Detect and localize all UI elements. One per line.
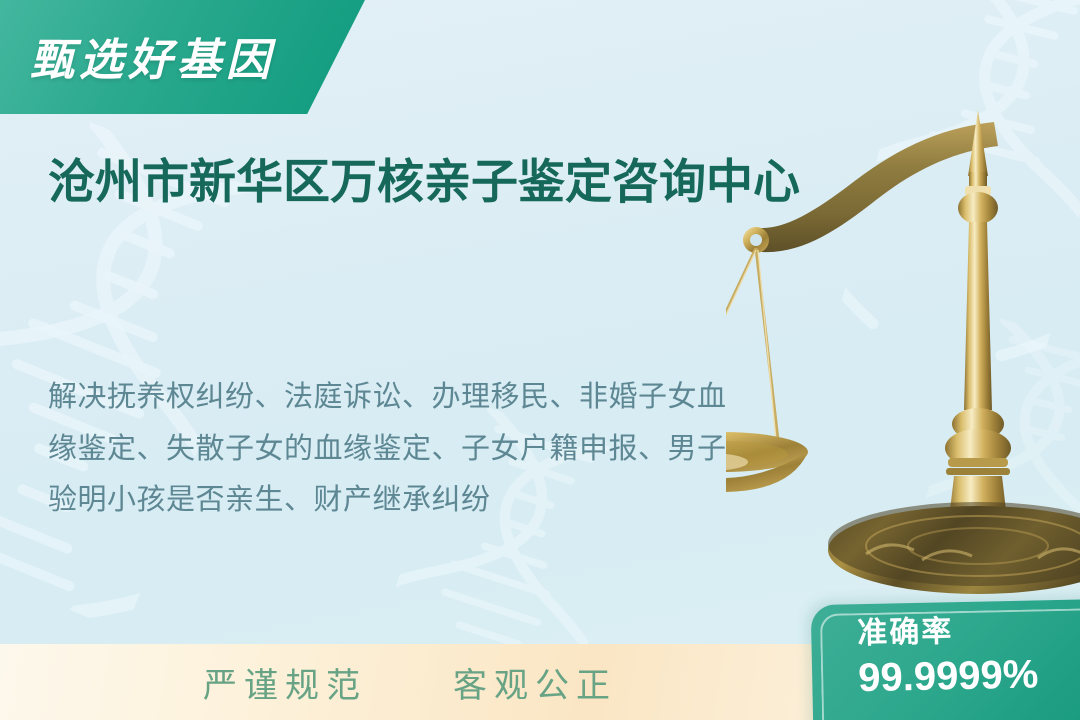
accuracy-badge: 准确率 99.9999% (811, 599, 1080, 720)
page-title: 沧州市新华区万核亲子鉴定咨询中心 (48, 152, 848, 212)
footer-slogan-2: 客观公正 (453, 658, 617, 707)
footer-slogan-1: 严谨规范 (203, 658, 367, 707)
brand-logo-banner: 甄选好基因 (0, 0, 368, 114)
dna-helix-icon (835, 0, 1080, 379)
brand-logo-text: 甄选好基因 (30, 24, 275, 88)
promo-poster: 甄选好基因 沧州市新华区万核亲子鉴定咨询中心 解决抚养权纠纷、法庭诉讼、办理移民… (0, 0, 1080, 720)
services-description: 解决抚养权纠纷、法庭诉讼、办理移民、非婚子女血缘鉴定、失散子女的血缘鉴定、子女户… (48, 372, 728, 527)
accuracy-badge-value: 99.9999% (858, 649, 1080, 703)
footer-slogans: 严谨规范 客观公正 (0, 644, 820, 720)
accuracy-badge-label: 准确率 (857, 611, 1080, 652)
